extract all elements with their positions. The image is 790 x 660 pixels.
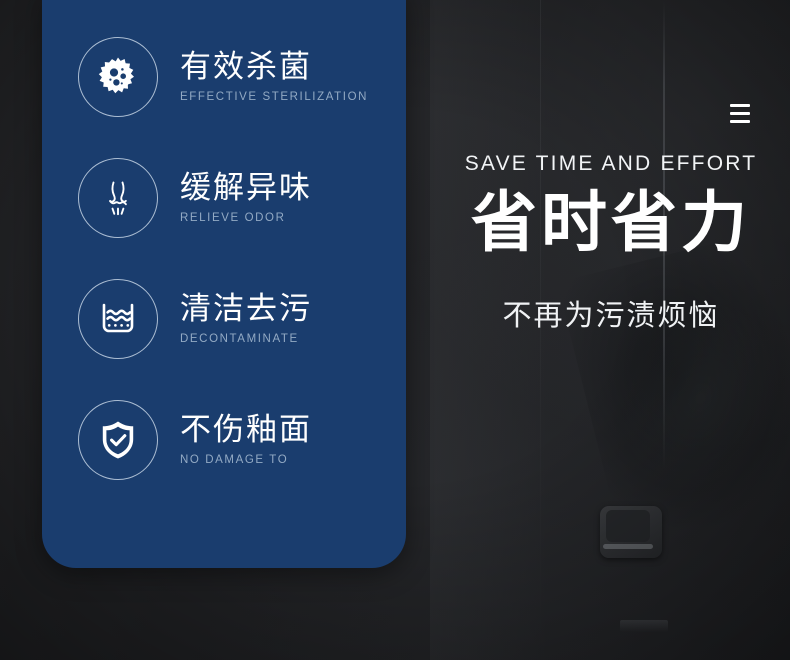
feature-text-no-damage: 不伤釉面 NO DAMAGE TO — [180, 413, 312, 466]
feature-list: 有效杀菌 EFFECTIVE STERILIZATION — [42, 0, 406, 500]
hamburger-menu-icon[interactable] — [726, 100, 754, 126]
hamburger-line-1 — [730, 104, 750, 107]
feature-title-en: RELIEVE ODOR — [180, 212, 312, 224]
hero-subtitle: 不再为污渍烦恼 — [432, 292, 790, 334]
feature-text-odor: 缓解异味 RELIEVE ODOR — [180, 171, 312, 224]
shield-check-icon — [78, 400, 158, 480]
feature-title-cn: 有效杀菌 — [180, 50, 368, 85]
germ-icon — [78, 37, 158, 117]
basin-waves-icon — [78, 279, 158, 359]
feature-panel: 有效杀菌 EFFECTIVE STERILIZATION — [42, 0, 406, 568]
feature-text-decontaminate: 清洁去污 DECONTAMINATE — [180, 292, 312, 345]
hamburger-line-3 — [730, 120, 750, 123]
feature-title-cn: 不伤釉面 — [180, 413, 312, 448]
feature-item-sterilization[interactable]: 有效杀菌 EFFECTIVE STERILIZATION — [42, 16, 406, 137]
feature-text-sterilization: 有效杀菌 EFFECTIVE STERILIZATION — [180, 50, 368, 103]
hero-eyebrow: SAVE TIME AND EFFORT — [432, 152, 790, 176]
nose-icon — [78, 158, 158, 238]
feature-title-en: NO DAMAGE TO — [180, 454, 312, 466]
feature-title-en: DECONTAMINATE — [180, 333, 312, 345]
product-feature-banner: 有效杀菌 EFFECTIVE STERILIZATION — [0, 0, 790, 660]
feature-item-no-damage[interactable]: 不伤釉面 NO DAMAGE TO — [42, 379, 406, 500]
hamburger-line-2 — [730, 112, 750, 115]
feature-item-decontaminate[interactable]: 清洁去污 DECONTAMINATE — [42, 258, 406, 379]
hero-copy: SAVE TIME AND EFFORT 省时省力 不再为污渍烦恼 — [432, 152, 790, 334]
feature-title-cn: 缓解异味 — [180, 171, 312, 206]
hero-title: 省时省力 — [432, 188, 790, 258]
feature-title-cn: 清洁去污 — [180, 292, 312, 327]
feature-item-odor[interactable]: 缓解异味 RELIEVE ODOR — [42, 137, 406, 258]
feature-title-en: EFFECTIVE STERILIZATION — [180, 91, 368, 103]
